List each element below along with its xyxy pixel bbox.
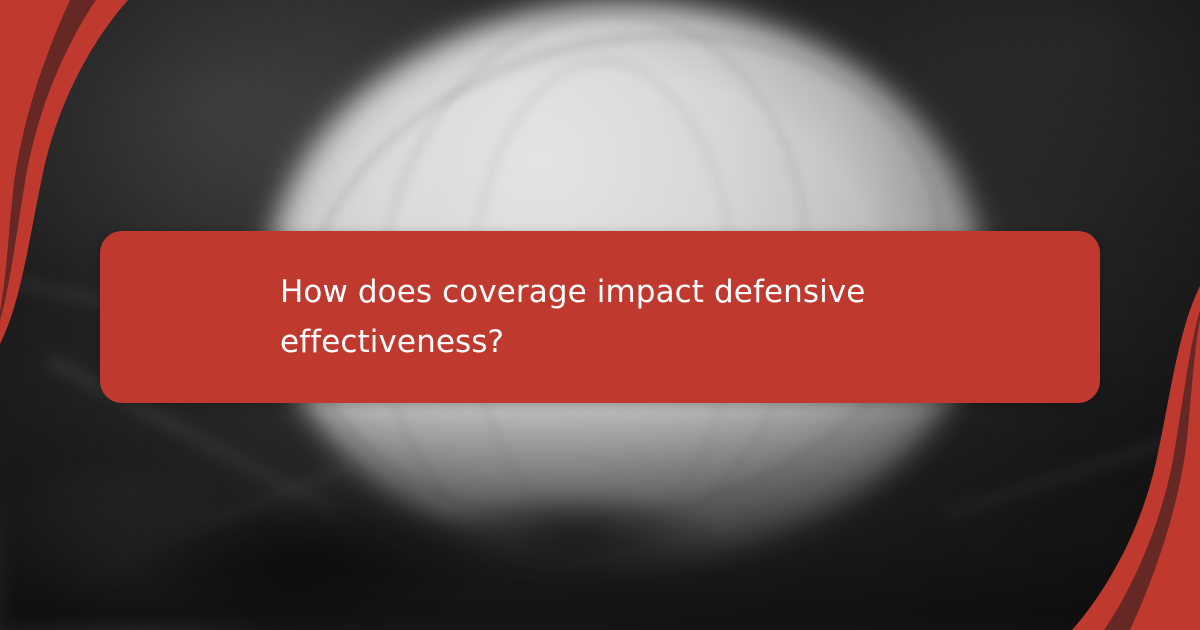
headline-card: How does coverage impact defensive effec… (100, 231, 1100, 403)
social-card-canvas: How does coverage impact defensive effec… (0, 0, 1200, 630)
headline-text: How does coverage impact defensive effec… (280, 267, 920, 367)
